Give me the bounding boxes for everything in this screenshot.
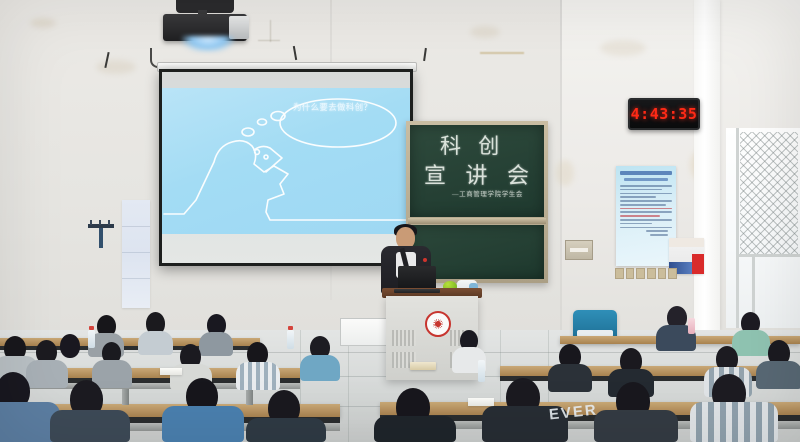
window-mesh-screen: [740, 132, 798, 256]
laptop-base: [394, 289, 440, 293]
wall-pillar: [694, 0, 720, 330]
poster-text-line: [620, 223, 652, 225]
poster-text-line: [620, 211, 672, 213]
student-torso: [199, 332, 233, 356]
poster-text-line: [646, 230, 668, 232]
poster-title-bar: [620, 171, 672, 175]
wall-paper-sheet: [122, 200, 150, 308]
desk-leg: [122, 389, 129, 405]
student-torso: [548, 364, 592, 392]
student-torso: [690, 402, 778, 442]
wall-scuff: [270, 20, 271, 42]
poster-red-block: [692, 254, 704, 274]
podium-vent: [392, 330, 416, 346]
wall-control-box: [565, 240, 593, 260]
water-bottle: [478, 360, 485, 382]
poster-text-line: [620, 219, 672, 221]
poster-text-line: [620, 227, 672, 229]
student-torso: [732, 330, 770, 356]
coat-hook-bar: [99, 228, 103, 248]
student-torso: [300, 355, 340, 381]
student-torso: [138, 331, 173, 355]
clock-time: 4:43:35: [631, 105, 698, 123]
open-book: [410, 362, 436, 370]
student-torso: [50, 410, 130, 442]
led-wall-clock: 4:43:35: [628, 98, 700, 130]
university-emblem: [425, 311, 451, 337]
slide-content: 为什么要去做科创？: [162, 88, 410, 234]
poster-text-line: [620, 193, 672, 195]
water-bottle: [88, 330, 95, 348]
wall-stain: [470, 26, 500, 38]
student-torso: [236, 362, 280, 390]
poster-text-line: [620, 185, 672, 187]
student-torso: [92, 360, 132, 388]
paper-sheet: [468, 398, 494, 406]
student-torso: [26, 360, 68, 388]
wall-stain: [556, 160, 574, 186]
wall-stain: [96, 60, 136, 74]
window-frame: [736, 128, 739, 328]
projection-screen: 为什么要去做科创？: [159, 69, 413, 266]
presenter-badge: [423, 258, 427, 262]
notice-poster: [616, 166, 676, 266]
poster-text-line: [620, 189, 662, 191]
blackboard-title-line2: 宣 讲 会: [424, 158, 536, 190]
poster-text-line: [650, 234, 668, 236]
poster-text-line: [620, 196, 656, 198]
screen-surface: 为什么要去做科创？: [162, 72, 410, 263]
slide-bubble-text: 为什么要去做科创？: [293, 102, 379, 113]
water-bottle: [688, 318, 695, 334]
chalk-tray: [408, 218, 546, 224]
blackboard-title-line1: 科 创: [440, 130, 505, 160]
wall-scuff: [258, 40, 280, 41]
wall-scuff: [480, 52, 524, 54]
classroom-photo: 为什么要去做科创？ 科 创 宣 讲 会 —工商管理学院学生会 4:43:35: [0, 0, 800, 442]
student-torso: [162, 406, 244, 442]
student-torso: [374, 416, 456, 442]
poster-text-line: [620, 200, 672, 202]
floor-tile-line: [348, 330, 349, 442]
poster-text-line: [620, 204, 666, 206]
student-head: [60, 334, 80, 358]
window-frame: [736, 254, 800, 257]
blackboard-subtitle: —工商管理学院学生会: [452, 188, 523, 198]
desk-leg: [246, 389, 253, 405]
water-bottle: [287, 330, 294, 349]
student-torso: [594, 410, 678, 442]
projector-lens-glow: [182, 36, 234, 52]
poster-header: [669, 238, 704, 247]
wall-tiles: [615, 268, 677, 279]
wall-stain: [30, 18, 56, 28]
student-torso: [756, 361, 800, 389]
poster-text-line: [620, 215, 660, 217]
laptop-screen: [398, 266, 436, 290]
poster-subtitle-bar: [624, 178, 668, 181]
wall-stain: [600, 40, 646, 56]
paper-sheet: [160, 368, 182, 375]
poster-text-line: [620, 208, 672, 210]
student-torso: [246, 418, 326, 442]
